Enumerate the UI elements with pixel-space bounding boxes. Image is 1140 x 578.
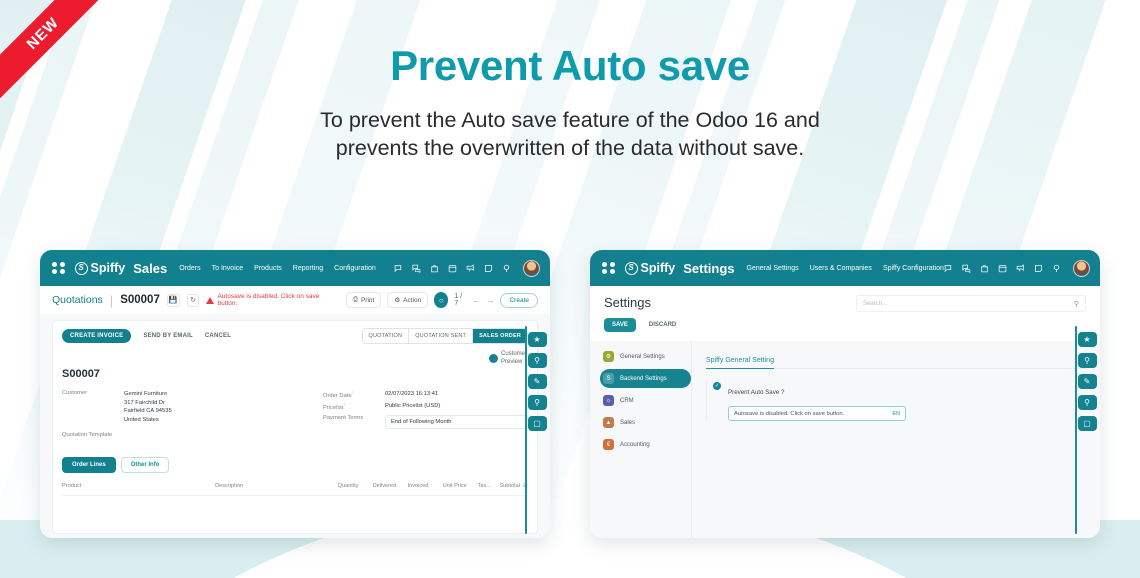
brand-label: Spiffy (641, 261, 676, 275)
search-icon[interactable]: ⚲ (528, 353, 547, 368)
col-delivered: Delivered (373, 483, 408, 489)
chat-icon[interactable] (412, 264, 421, 273)
setting-content: Prevent Auto Save ? Autosave is disabled… (728, 381, 906, 421)
sidebar-item-sales[interactable]: ▲ Sales (600, 413, 691, 432)
note-icon[interactable] (484, 264, 493, 273)
megaphone-icon[interactable] (466, 264, 475, 273)
pin-icon[interactable] (1052, 264, 1061, 273)
sales-action-row: CREATE INVOICE SEND BY EMAIL CANCEL QUOT… (62, 328, 528, 344)
col-invoiced: Invoiced (408, 483, 443, 489)
autosave-message-value: Autosave is disabled. Click on save butt… (734, 411, 844, 417)
settings-sidebar: ⚙ General Settings S Backend Settings ☼ … (590, 341, 692, 538)
accounting-icon: € (603, 439, 614, 450)
subtitle-line-1: To prevent the Auto save feature of the … (0, 106, 1140, 134)
bag-icon[interactable] (430, 264, 439, 273)
search-placeholder: Search... (863, 301, 887, 307)
customer-preview-button[interactable]: Customer Preview (489, 351, 527, 366)
attachment-circle-button[interactable]: ○ (434, 292, 448, 308)
bookmark-icon[interactable]: ▢ (1078, 416, 1097, 431)
menu-item-products[interactable]: Products (254, 265, 282, 272)
apps-grid-icon[interactable] (52, 262, 65, 275)
bag-icon[interactable] (980, 264, 989, 273)
sales-sheet: CREATE INVOICE SEND BY EMAIL CANCEL QUOT… (52, 320, 538, 534)
col-product: Product (62, 483, 215, 489)
megaphone-icon[interactable] (1016, 264, 1025, 273)
sales-sheet-wrapper: CREATE INVOICE SEND BY EMAIL CANCEL QUOT… (40, 314, 550, 534)
prevent-auto-save-checkbox[interactable]: ✓ (713, 382, 721, 390)
menu-item-to-invoice[interactable]: To Invoice (212, 265, 244, 272)
settings-screenshot-panel: S Spiffy Settings General Settings Users… (590, 250, 1100, 538)
save-button[interactable]: SAVE (604, 318, 636, 332)
settings-header: Settings Search... ⚲ (590, 286, 1100, 312)
sidebar-item-backend-settings[interactable]: S Backend Settings (600, 369, 691, 388)
sales-icon: ▲ (603, 417, 614, 428)
settings-main: Spiffy General Setting ✓ Prevent Auto Sa… (692, 341, 1100, 538)
payment-terms-field: Payment Terms End of Following Month (323, 415, 528, 429)
action-label: Action (403, 297, 421, 304)
status-bar: QUOTATION QUOTATION SENT SALES ORDER (362, 328, 529, 344)
payment-terms-label: Payment Terms (323, 415, 385, 421)
save-icon[interactable]: 💾 (167, 294, 180, 307)
customer-label: Customer (62, 390, 124, 425)
sales-side-rail: ★ ⚲ ✎ ⚲ ▢ (524, 286, 550, 538)
menu-item-orders[interactable]: Orders (179, 265, 200, 272)
customer-address-3: United States (124, 417, 159, 423)
payment-terms-input[interactable]: End of Following Month (385, 415, 528, 429)
sales-menu: Orders To Invoice Products Reporting Con… (179, 265, 376, 272)
menu-item-configuration[interactable]: Configuration (334, 265, 376, 272)
order-date-field: Order Date? 02/07/2023 16:13:41 (323, 390, 528, 399)
col-unit-price: Unit Price (443, 483, 478, 489)
tab-other-info[interactable]: Other Info (121, 457, 170, 473)
gear-icon: ⚙ (394, 296, 400, 304)
create-invoice-button[interactable]: CREATE INVOICE (62, 329, 131, 343)
calendar-icon[interactable] (448, 264, 457, 273)
send-by-email-button[interactable]: SEND BY EMAIL (143, 333, 193, 339)
sidebar-item-general-settings[interactable]: ⚙ General Settings (600, 347, 691, 366)
sidebar-item-accounting[interactable]: € Accounting (600, 435, 691, 454)
spiffy-logo[interactable]: S Spiffy (75, 261, 126, 275)
customer-preview-icon (489, 354, 498, 363)
spiffy-mark-icon: S (75, 262, 88, 275)
settings-actions: SAVE DISCARD (590, 312, 1100, 341)
discard-icon[interactable]: ↻ (187, 294, 200, 307)
chat-icon[interactable] (962, 264, 971, 273)
pricelist-value[interactable]: Public Pricelist (USD) (385, 402, 440, 411)
print-button[interactable]: ⎙ Print (346, 292, 382, 308)
wand-icon[interactable]: ✎ (1078, 374, 1097, 389)
pager-next-button[interactable]: → (486, 296, 494, 305)
order-date-value[interactable]: 02/07/2023 16:13:41 (385, 390, 438, 399)
sidebar-label: General Settings (620, 354, 665, 360)
discard-button[interactable]: DISCARD (643, 318, 682, 332)
user-avatar[interactable] (1073, 260, 1090, 277)
sidebar-label: CRM (620, 398, 634, 404)
settings-navbar-icons (944, 260, 1090, 277)
calendar-icon[interactable] (998, 264, 1007, 273)
quotation-template-label: Quotation Template (62, 432, 124, 438)
rail-divider (1075, 326, 1077, 534)
star-icon[interactable]: ★ (1078, 332, 1097, 347)
spiffy-icon: S (603, 373, 614, 384)
customer-address-1: 317 Fairchild Dr (124, 400, 165, 406)
action-button[interactable]: ⚙ Action (387, 292, 428, 308)
zoom-icon[interactable]: ⚲ (1078, 395, 1097, 410)
spiffy-mark-icon: S (625, 262, 638, 275)
bookmark-icon[interactable]: ▢ (528, 416, 547, 431)
zoom-icon[interactable]: ⚲ (528, 395, 547, 410)
status-quotation[interactable]: QUOTATION (363, 329, 410, 343)
form-right-column: Order Date? 02/07/2023 16:13:41 Pricelis… (323, 390, 528, 441)
print-icon: ⎙ (353, 296, 358, 304)
pager-prev-button[interactable]: ← (472, 296, 480, 305)
sidebar-label: Sales (620, 420, 635, 426)
customer-name-link[interactable]: Gemini Furniture (124, 391, 167, 397)
pager-count: 1 / 7 (454, 293, 466, 307)
search-input[interactable]: Search... ⚲ (856, 295, 1086, 312)
gear-icon: ⚙ (603, 351, 614, 362)
menu-item-users-companies[interactable]: Users & Companies (810, 265, 872, 272)
customer-address-2: Fairfield CA 94535 (124, 408, 172, 414)
apps-grid-icon[interactable] (602, 262, 615, 275)
tab-order-lines[interactable]: Order Lines (62, 457, 116, 473)
header: Prevent Auto save To prevent the Auto sa… (0, 0, 1140, 163)
breadcrumb-current: S00007 (120, 294, 160, 306)
cancel-button[interactable]: CANCEL (205, 333, 231, 339)
status-sales-order[interactable]: SALES ORDER (473, 329, 527, 343)
pin-icon[interactable] (502, 264, 511, 273)
app-name-sales[interactable]: Sales (133, 261, 167, 276)
order-lines-header: Product Description Quantity Delivered I… (62, 483, 528, 496)
crm-icon: ☼ (603, 395, 614, 406)
prevent-auto-save-label: Prevent Auto Save ? (728, 389, 784, 396)
sales-control-bar: Quotations | S00007 💾 ↻ Autosave is disa… (40, 286, 550, 314)
wand-icon[interactable]: ✎ (528, 374, 547, 389)
search-icon[interactable]: ⚲ (1078, 353, 1097, 368)
control-bar-right: ⎙ Print ⚙ Action ○ 1 / 7 ← → Create (346, 292, 538, 308)
status-quotation-sent[interactable]: QUOTATION SENT (409, 329, 473, 343)
warning-triangle-icon (206, 297, 214, 304)
settings-body: ⚙ General Settings S Backend Settings ☼ … (590, 341, 1100, 538)
order-date-label: Order Date? (323, 390, 385, 399)
quotation-template-field: Quotation Template (62, 432, 323, 438)
menu-item-reporting[interactable]: Reporting (293, 265, 323, 272)
brand-label: Spiffy (91, 261, 126, 275)
settings-navbar: S Spiffy Settings General Settings Users… (590, 250, 1100, 286)
menu-item-spiffy-configuration[interactable]: Spiffy Configuration (883, 265, 944, 272)
pricelist-label: Pricelist? (323, 402, 385, 411)
sales-screenshot-panel: S Spiffy Sales Orders To Invoice Product… (40, 250, 550, 538)
sheet-tabs: Order Lines Other Info (62, 457, 528, 473)
sales-navbar: S Spiffy Sales Orders To Invoice Product… (40, 250, 550, 286)
record-name: S00007 (62, 368, 528, 380)
col-description: Description (215, 483, 338, 489)
app-name-settings[interactable]: Settings (683, 261, 734, 276)
autosave-message-input[interactable]: Autosave is disabled. Click on save butt… (728, 406, 906, 421)
settings-page-title: Settings (604, 295, 651, 310)
settings-side-rail: ★ ⚲ ✎ ⚲ ▢ (1074, 286, 1100, 538)
prevent-auto-save-setting: ✓ Prevent Auto Save ? Autosave is disabl… (706, 381, 1086, 421)
col-quantity: Quantity (338, 483, 373, 489)
note-icon[interactable] (1034, 264, 1043, 273)
sales-navbar-icons (394, 260, 540, 277)
subtitle-line-2: prevents the overwritten of the data wit… (0, 134, 1140, 162)
sidebar-label: Accounting (620, 442, 650, 448)
sidebar-label: Backend Settings (620, 376, 667, 382)
page-title: Prevent Auto save (0, 42, 1140, 90)
autosave-warning-text: Autosave is disabled. Click on save butt… (217, 293, 338, 307)
settings-menu: General Settings Users & Companies Spiff… (747, 265, 944, 272)
page-subtitle: To prevent the Auto save feature of the … (0, 106, 1140, 163)
section-title: Spiffy General Setting (706, 357, 774, 369)
language-badge[interactable]: EN (892, 411, 900, 417)
user-avatar[interactable] (523, 260, 540, 277)
star-icon[interactable]: ★ (528, 332, 547, 347)
breadcrumb-quotations[interactable]: Quotations (52, 294, 103, 306)
rail-divider (525, 326, 527, 534)
form-left-column: Customer Gemini Furniture 317 Fairchild … (62, 390, 323, 441)
print-label: Print (361, 297, 374, 304)
messages-icon[interactable] (394, 264, 403, 273)
pricelist-field: Pricelist? Public Pricelist (USD) (323, 402, 528, 411)
autosave-warning: Autosave is disabled. Click on save butt… (206, 293, 338, 307)
menu-item-general-settings[interactable]: General Settings (747, 265, 799, 272)
messages-icon[interactable] (944, 264, 953, 273)
col-subtotal: Subtotal (499, 483, 520, 489)
sidebar-item-crm[interactable]: ☼ CRM (600, 391, 691, 410)
customer-value: Gemini Furniture 317 Fairchild Dr Fairfi… (124, 390, 172, 425)
spiffy-logo[interactable]: S Spiffy (625, 261, 676, 275)
col-tax: Tax... (478, 483, 500, 489)
record-form: Customer Gemini Furniture 317 Fairchild … (62, 390, 528, 441)
customer-field: Customer Gemini Furniture 317 Fairchild … (62, 390, 323, 425)
breadcrumb-separator: | (110, 293, 113, 308)
